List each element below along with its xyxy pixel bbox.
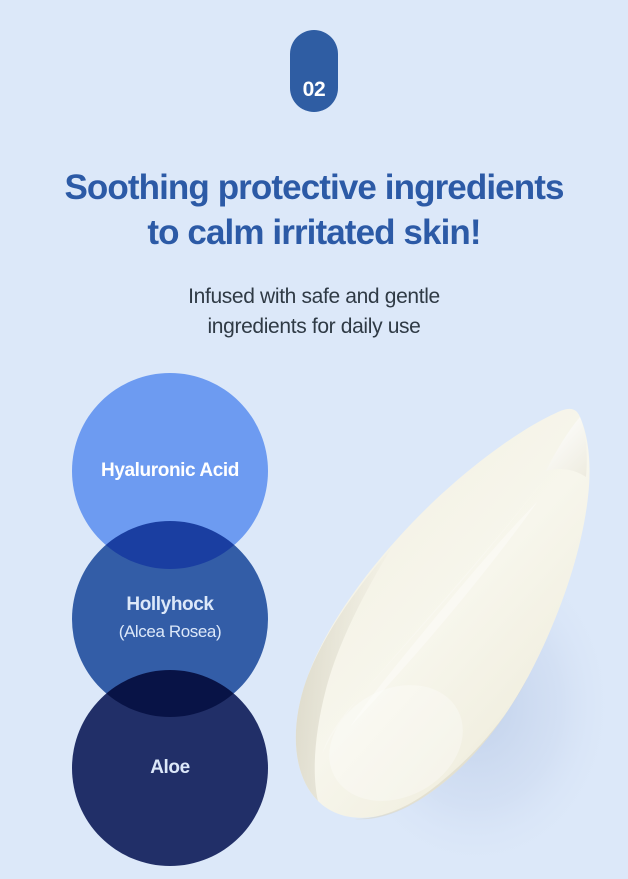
- page-subtitle-line-2: ingredients for daily use: [0, 312, 628, 342]
- ingredient-name: Hollyhock: [126, 593, 213, 617]
- step-badge-number: 02: [303, 79, 326, 100]
- step-badge: 02: [290, 30, 338, 112]
- ingredient-name: Aloe: [150, 756, 190, 780]
- page-subtitle: Infused with safe and gentle ingredients…: [0, 282, 628, 342]
- page-subtitle-line-1: Infused with safe and gentle: [0, 282, 628, 312]
- cream-swatch-image: [288, 405, 616, 867]
- page-title-line-2: to calm irritated skin!: [0, 211, 628, 255]
- ingredient-circle-aloe: Aloe: [72, 670, 268, 866]
- page-title: Soothing protective ingredients to calm …: [0, 166, 628, 255]
- ingredient-circle-stack: Hyaluronic Acid Hollyhock (Alcea Rosea) …: [72, 373, 268, 866]
- ingredient-subname: (Alcea Rosea): [119, 621, 222, 643]
- page-title-line-1: Soothing protective ingredients: [0, 166, 628, 210]
- promo-page: 02 Soothing protective ingredients to ca…: [0, 0, 628, 879]
- ingredient-name: Hyaluronic Acid: [101, 459, 239, 483]
